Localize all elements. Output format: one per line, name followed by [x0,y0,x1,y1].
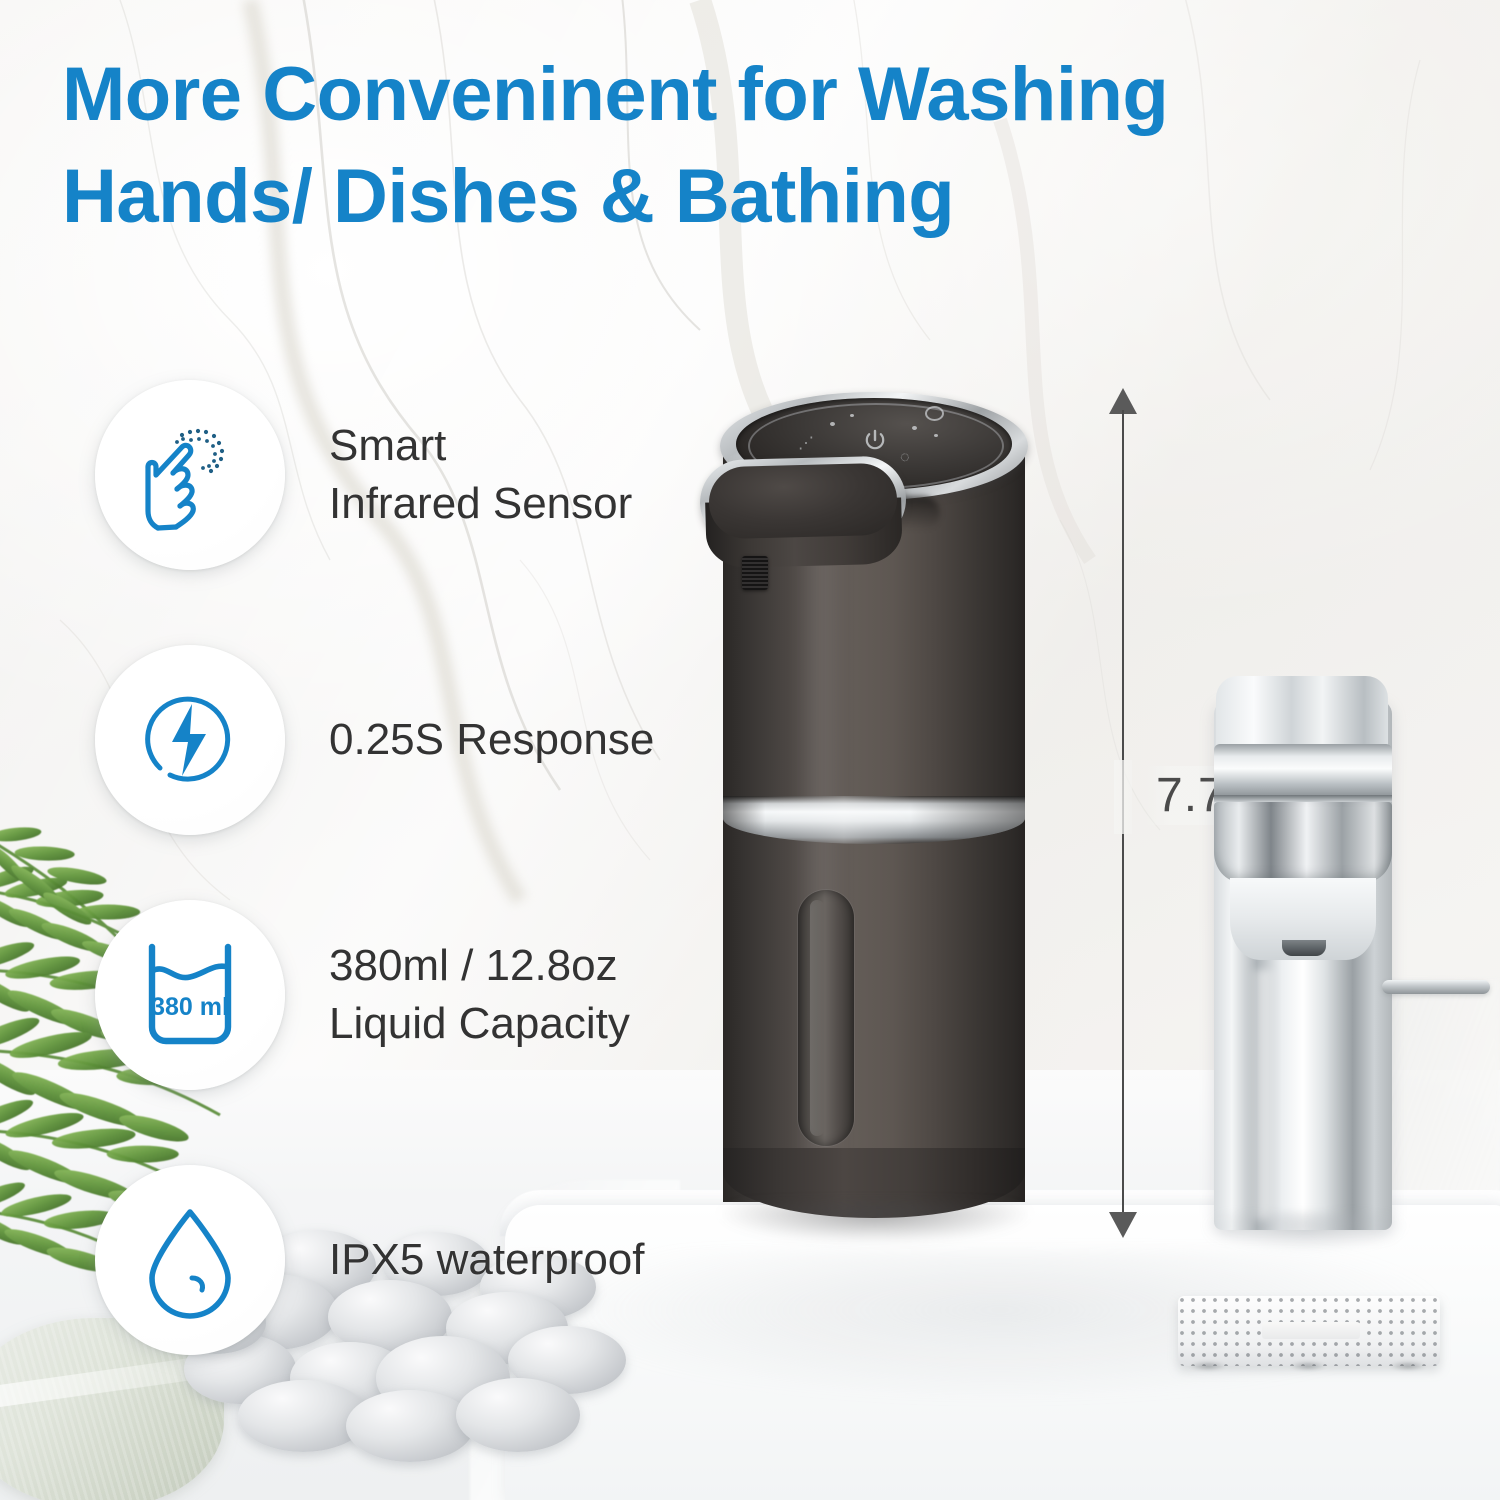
faucet-reflection [1248,970,1278,1220]
page-title: More Conveninent for Washing Hands/ Dish… [62,44,1452,248]
product-feature-image: ⋰ ◌ 7.7nch More Con [0,0,1500,1500]
beaker-capacity-value: 380 ml [151,993,229,1021]
feature-item-smart-infrared-sensor: Smart Infrared Sensor [95,380,632,570]
feature-item-response-time: 0.25S Response [95,645,654,835]
lightning-bolt-circle-icon [95,645,285,835]
grate-feet-shadow [1190,1360,1428,1374]
faucet-cap [1216,676,1388,748]
chrome-faucet [1196,640,1426,1240]
feature-item-liquid-capacity: 380 ml 380ml / 12.8oz Liquid Capacity [95,900,630,1090]
feature-item-waterproof: IPX5 waterproof [95,1165,645,1355]
water-droplet-icon [95,1165,285,1355]
faucet-collar-upper [1214,744,1392,800]
faucet-collar-lower [1214,802,1392,882]
beaker-capacity-icon: 380 ml [95,900,285,1090]
feature-label-waterproof: IPX5 waterproof [329,1231,645,1289]
volume-bars-icon: ⋰ [798,436,814,452]
panel-dot [912,426,917,430]
faucet-aerator [1282,940,1326,956]
power-button-icon[interactable] [863,428,887,454]
panel-dot [934,434,938,437]
feature-label-liquid-capacity: 380ml / 12.8oz Liquid Capacity [329,937,630,1053]
grate-slot [1262,1322,1360,1339]
dispensing-nozzle-icon [742,556,768,590]
panel-dot [830,422,835,426]
dimension-arrow-down-icon [1109,1212,1137,1238]
feature-label-response-time: 0.25S Response [329,711,654,769]
faucet-groove [1214,795,1392,802]
headline-line-2: Hands/ Dishes & Bathing [62,146,1452,248]
dispenser-base-shadow [720,1202,1030,1242]
faucet-handle[interactable] [1382,980,1490,994]
droplet-indicator-icon: ◌ [900,450,910,466]
feature-label-smart-infrared-sensor: Smart Infrared Sensor [329,417,632,533]
headline-line-1: More Conveninent for Washing [62,44,1452,146]
nozzle-arm-top [708,463,898,540]
liquid-level-window [798,890,854,1146]
panel-dot [850,414,854,417]
foam-level-indicator-icon [925,406,944,421]
perforated-drain-grate [1178,1296,1440,1366]
dimension-label-mask [1114,760,1132,834]
faucet-shadow [1206,1212,1406,1252]
automatic-soap-dispenser: ⋰ ◌ [700,378,1050,1248]
hand-touch-sensor-icon [95,380,285,570]
